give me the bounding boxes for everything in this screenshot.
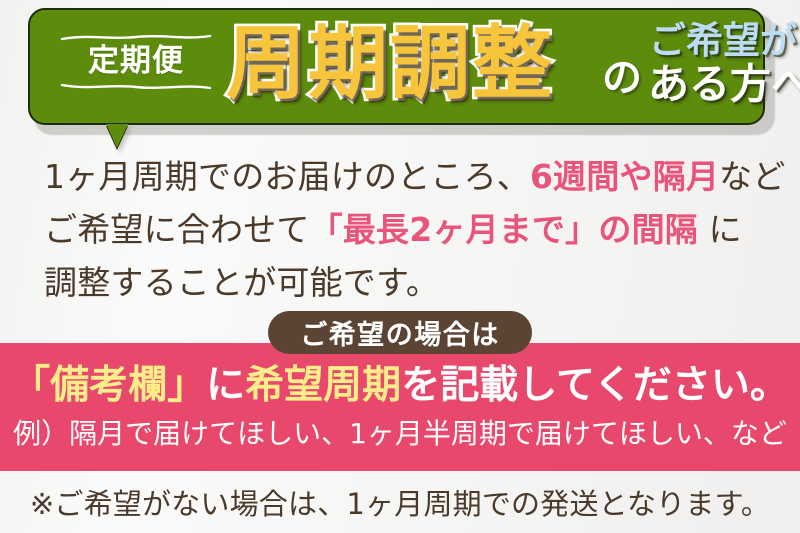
body-line-2-text-a: ご希望に合わせて	[44, 210, 310, 249]
wave-line-top-icon	[60, 34, 212, 41]
instruction-headline-text-b: を記載してください。	[401, 363, 789, 408]
header-title: 周期調整	[226, 24, 554, 104]
instruction-headline-em1: 「備考欄」	[11, 363, 206, 408]
body-paragraph: 1ヶ月周期でのお届けのところ、6週間や隔月など ご希望に合わせて「最長2ヶ月まで…	[44, 150, 764, 309]
header-subtitle-line1: ご希望が	[648, 22, 798, 60]
body-line-1-text-a: 1ヶ月周期でのお届けのところ、	[44, 157, 530, 196]
body-line-1: 1ヶ月周期でのお届けのところ、6週間や隔月など	[44, 150, 764, 203]
header-banner: 定期便 周期調整 の ご希望が ある方へ	[28, 8, 775, 135]
body-line-2-text-b: に	[698, 210, 742, 249]
instruction-example: 例）隔月で届けてほしい、1ヶ月半周期で届けてほしい、など	[0, 419, 800, 450]
instruction-band: 「備考欄」に希望周期を記載してください。 例）隔月で届けてほしい、1ヶ月半周期で…	[0, 343, 800, 471]
instruction-headline-text-a: に	[206, 363, 245, 408]
wave-line-bottom-icon	[60, 83, 212, 90]
body-line-2-highlight: 「最長2ヶ月まで」の間隔	[310, 210, 698, 249]
header-subtitle-group: ご希望が ある方へ	[648, 22, 798, 106]
request-case-badge: ご希望の場合は	[268, 311, 532, 354]
instruction-headline: 「備考欄」に希望周期を記載してください。	[0, 365, 800, 408]
header-particle: の	[602, 58, 642, 98]
subscription-badge-label: 定期便	[60, 41, 212, 83]
body-line-1-accent: 6週間や隔月	[530, 157, 719, 196]
body-line-1-text-b: など	[719, 157, 785, 196]
header-pointer-tail-icon	[106, 124, 128, 148]
promotional-banner: 定期便 周期調整 の ご希望が ある方へ 1ヶ月周期でのお届けのところ、6週間や	[0, 0, 800, 533]
body-line-2: ご希望に合わせて「最長2ヶ月まで」の間隔 に	[44, 203, 764, 256]
header-box: 定期便 周期調整 の ご希望が ある方へ	[28, 8, 765, 125]
footer-note: ※ご希望がない場合は、1ヶ月周期での発送となります。	[0, 481, 800, 523]
request-case-badge-label: ご希望の場合は	[300, 313, 500, 352]
instruction-headline-em2: 希望周期	[245, 363, 401, 408]
body-line-3: 調整することが可能です。	[44, 256, 764, 309]
header-subtitle-line2: ある方へ	[648, 64, 798, 106]
subscription-badge: 定期便	[60, 34, 212, 90]
